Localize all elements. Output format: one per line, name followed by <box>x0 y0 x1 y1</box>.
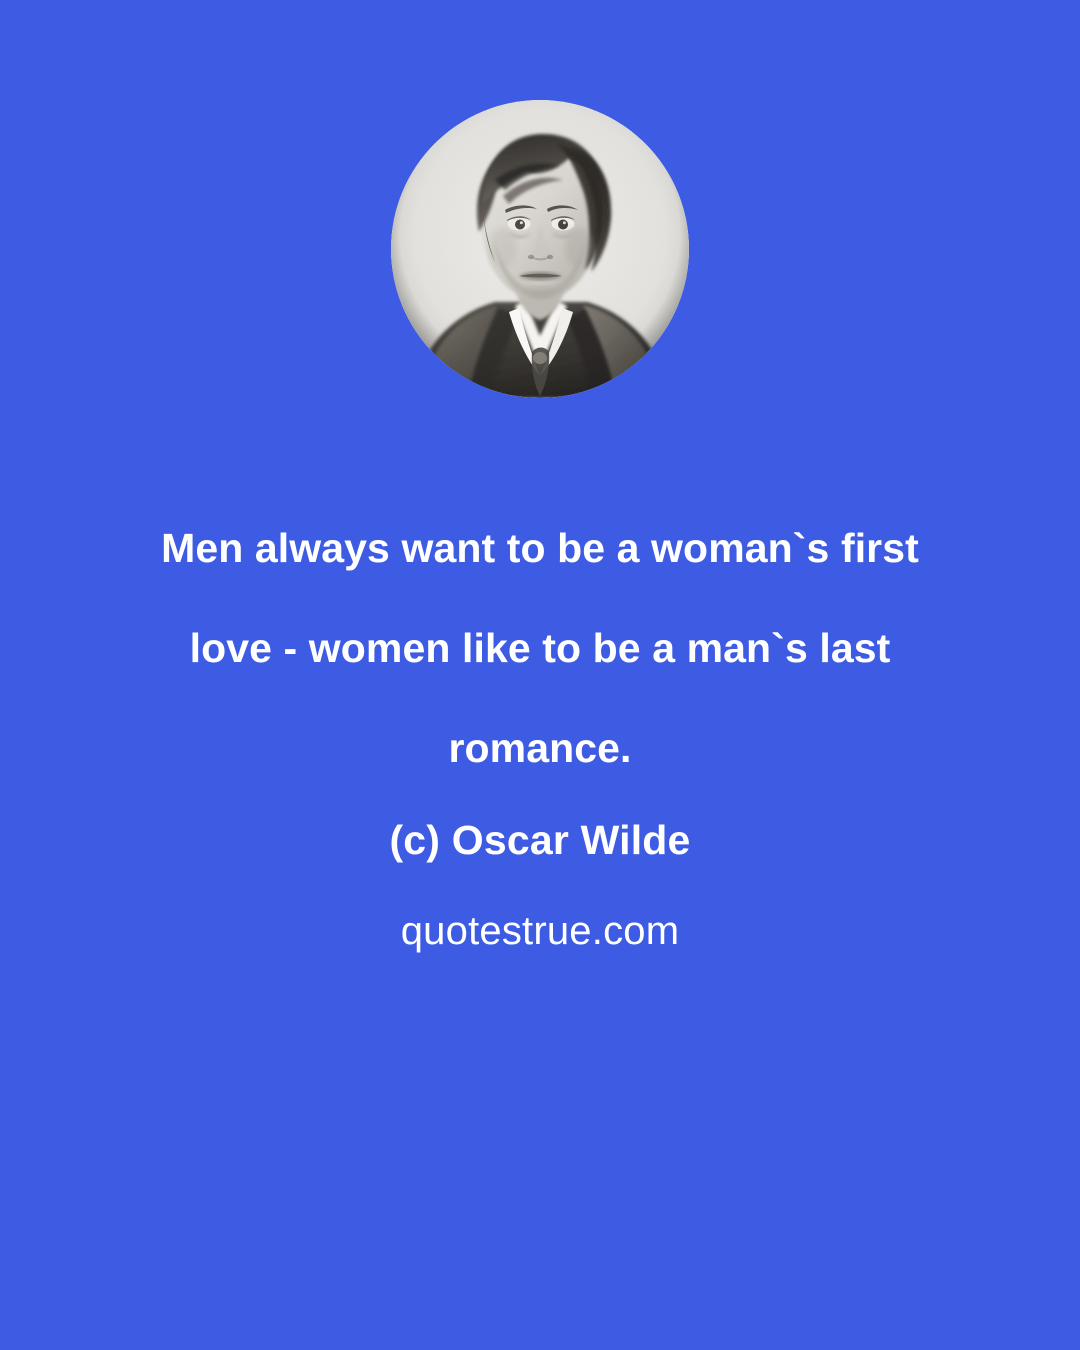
quote-line-3: romance. <box>70 698 1010 798</box>
oscar-wilde-photo-icon <box>391 100 689 398</box>
quote-line-2: love - women like to be a man`s last <box>70 598 1010 698</box>
author-portrait <box>391 100 689 398</box>
quote-text: Men always want to be a woman`s first lo… <box>70 498 1010 798</box>
site-attribution: quotestrue.com <box>0 903 1080 959</box>
portrait-circle <box>391 100 689 398</box>
quote-line-1: Men always want to be a woman`s first <box>70 498 1010 598</box>
quote-card: Men always want to be a woman`s first lo… <box>0 0 1080 1350</box>
quote-author: (c) Oscar Wilde <box>0 812 1080 868</box>
